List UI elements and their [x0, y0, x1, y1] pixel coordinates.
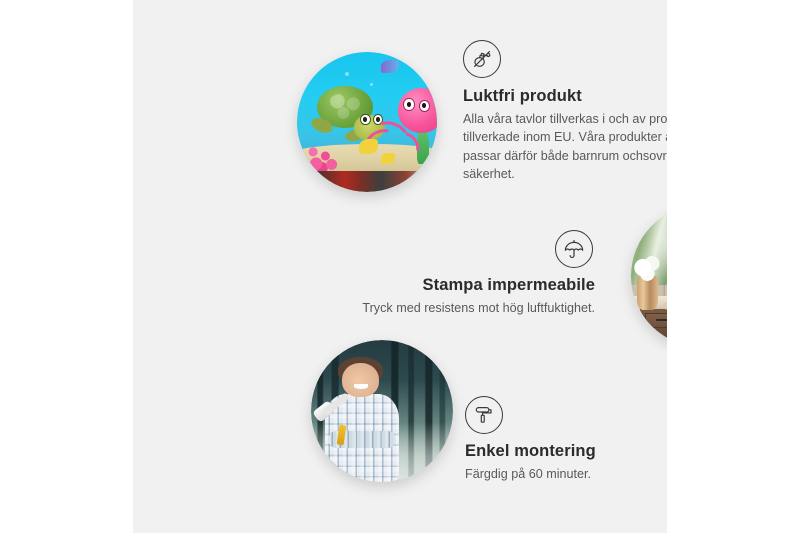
content-panel: Luktfri produkt Alla våra tavlor tillver…: [133, 0, 667, 533]
photo-installer-inner: [311, 340, 453, 482]
photo-underwater-inner: [297, 52, 437, 192]
room-floor-strip: [297, 171, 437, 192]
person-head: [342, 363, 379, 397]
pink-coral: [305, 130, 341, 172]
feature-assembly: Enkel montering Färgdig på 60 minuter.: [465, 396, 667, 483]
photo-underwater: [297, 52, 437, 192]
umbrella-icon: [555, 230, 593, 268]
feature-title: Stampa impermeabile: [313, 276, 595, 295]
feature-body: Färgdig på 60 minuter.: [465, 465, 667, 484]
bubble-icon: [345, 72, 349, 76]
photo-bathroom: [631, 205, 667, 347]
person-smile: [354, 384, 368, 389]
feature-waterproof: Stampa impermeabile Tryck med resistens …: [313, 230, 595, 317]
turtle-eye: [360, 114, 371, 126]
yellow-fish: [381, 153, 395, 164]
white-flowers: [631, 250, 665, 281]
promo-page: Luktfri produkt Alla våra tavlor tillver…: [0, 0, 800, 533]
octopus-eye: [403, 98, 414, 111]
octopus-eye: [419, 100, 430, 113]
feature-title: Enkel montering: [465, 442, 667, 461]
paint-roller-icon: [465, 396, 503, 434]
drawer-handle: [656, 319, 667, 321]
no-fragrance-icon: [463, 40, 501, 78]
feature-title: Luktfri produkt: [463, 87, 667, 106]
feature-body: Tryck med resistens mot hög luftfuktighe…: [313, 299, 595, 318]
photo-installer: [311, 340, 453, 482]
photo-bathroom-inner: [631, 205, 667, 347]
wooden-vanity: [640, 309, 667, 347]
feature-odourless: Luktfri produkt Alla våra tavlor tillver…: [463, 40, 667, 184]
feature-body: Alla våra tavlor tillverkas i och av pro…: [463, 110, 667, 184]
